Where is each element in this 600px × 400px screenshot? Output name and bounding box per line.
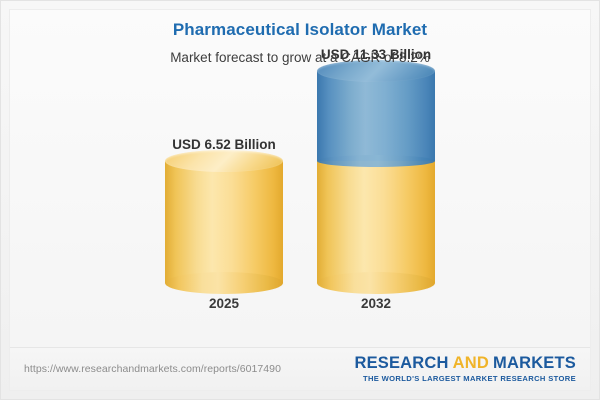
logo-wordmark: RESEARCHANDMARKETS (354, 355, 576, 372)
bar-segment-yellow-2032 (317, 161, 435, 283)
brand-logo[interactable]: RESEARCHANDMARKETS THE WORLD'S LARGEST M… (354, 355, 576, 382)
logo-word-markets: MARKETS (493, 354, 576, 372)
footer-bar: https://www.researchandmarkets.com/repor… (10, 347, 590, 390)
x-tick-label-2032: 2032 (301, 295, 451, 313)
bar-segment-yellow-2025 (165, 161, 283, 283)
bar-cylinder-2025[interactable] (165, 161, 283, 283)
x-tick-label-2025: 2025 (149, 295, 299, 313)
bar-bottom-cap-2032 (317, 272, 435, 294)
bar-bottom-cap-2025 (165, 272, 283, 294)
logo-tagline: THE WORLD'S LARGEST MARKET RESEARCH STOR… (354, 375, 576, 383)
chart-header: Pharmaceutical Isolator Market Market fo… (1, 19, 599, 67)
bar-top-cap-2025 (165, 150, 283, 172)
bar-segment-blue-2032 (317, 71, 435, 161)
logo-word-and: AND (453, 354, 489, 372)
source-url-link[interactable]: https://www.researchandmarkets.com/repor… (24, 363, 281, 375)
infographic-card: Pharmaceutical Isolator Market Market fo… (0, 0, 600, 400)
chart-subtitle: Market forecast to grow at a CAGR of 8.2… (1, 49, 599, 67)
page-title: Pharmaceutical Isolator Market (1, 19, 599, 41)
logo-word-research: RESEARCH (354, 354, 448, 372)
bar-cylinder-2032[interactable] (317, 71, 435, 283)
bar-segment-seam (317, 155, 435, 167)
